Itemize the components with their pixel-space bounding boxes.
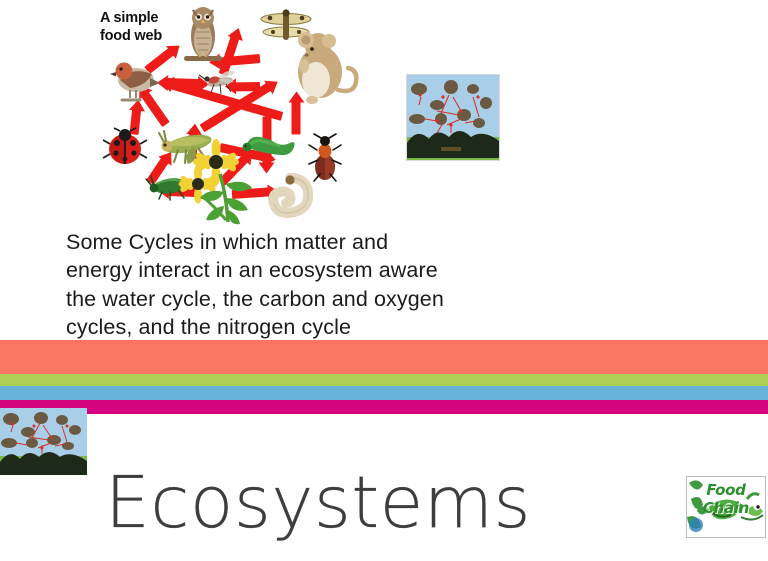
- stripe-coral: [0, 340, 768, 374]
- thumbnail-food-chain: Food Chain: [686, 476, 766, 538]
- organism-owl: [180, 6, 226, 64]
- food-chain-caption: Food Chain: [687, 481, 765, 517]
- slide-title: Ecosystems and Energy Flow: [105, 398, 705, 561]
- organism-sunflower-plant: [186, 148, 272, 224]
- thumbnail-ecosystem-food-web-top: [406, 74, 500, 161]
- organism-finch: [104, 54, 160, 104]
- organism-mosquito: [198, 66, 242, 96]
- food-web-diagram: A simple food web: [92, 2, 362, 224]
- slide-canvas: A simple food web: [0, 0, 768, 561]
- stripe-green: [0, 374, 768, 386]
- thumbnail-ecosystem-food-web-left: [0, 408, 87, 475]
- title-line-1: Ecosystems: [105, 468, 705, 538]
- organism-grub: [268, 174, 314, 216]
- organism-ladybug: [102, 128, 148, 168]
- cycles-paragraph: Some Cycles in which matter and energy i…: [66, 228, 486, 342]
- organism-mouse: [282, 30, 362, 112]
